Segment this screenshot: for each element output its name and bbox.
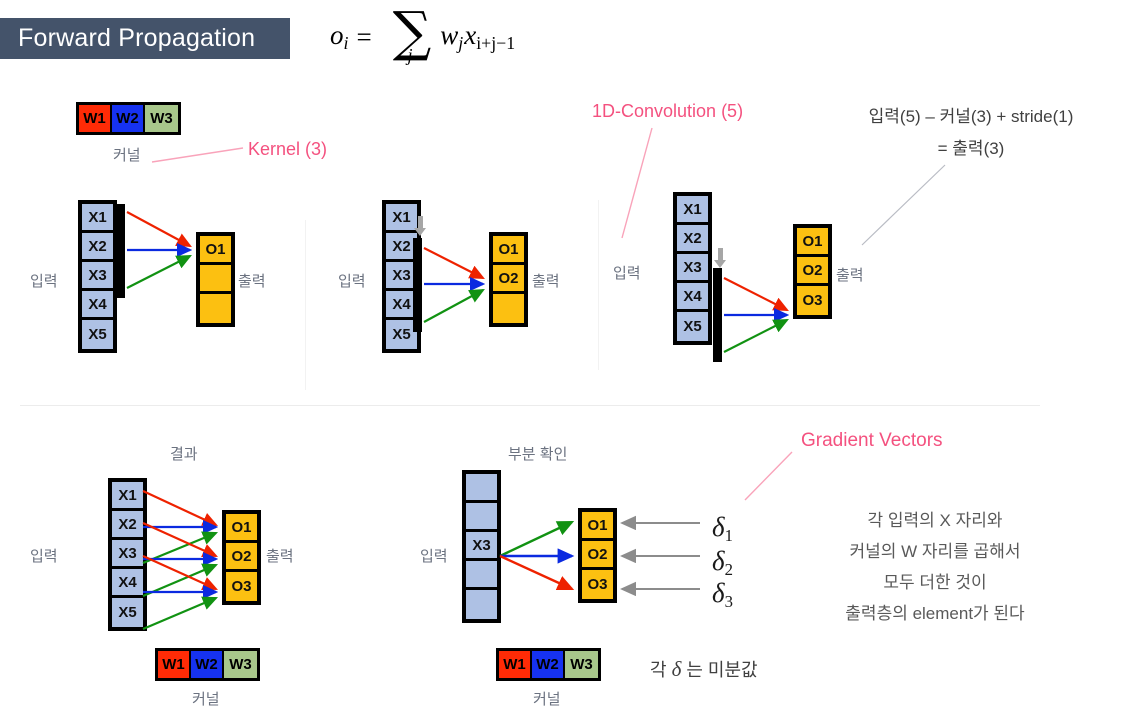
input-label-result: 입력 <box>30 545 58 566</box>
kernel-strip-top: W1 W2 W3 <box>76 102 181 135</box>
arrows-result-panel <box>143 491 216 629</box>
input-label-partial: 입력 <box>420 545 448 566</box>
kernel-caption-result: 커널 <box>192 688 220 709</box>
output-cell-o3: O3 <box>226 572 257 601</box>
input-cell-x4: X4 <box>112 569 143 598</box>
output-size-note: 입력(5) – 커널(3) + stride(1) = 출력(3) <box>836 101 1106 165</box>
input-cell-2 <box>466 503 497 532</box>
output-vector-panel-2: O1 O2 <box>489 232 528 327</box>
explanation-note: 각 입력의 X 자리와 커널의 W 자리를 곱해서 모두 더한 것이 출력층의 … <box>790 505 1080 629</box>
arrows-panel-3 <box>724 278 787 352</box>
explanation-line-3: 모두 더한 것이 <box>790 567 1080 598</box>
explanation-line-1: 각 입력의 X 자리와 <box>790 505 1080 536</box>
output-cell-o1: O1 <box>797 228 828 257</box>
output-vector-partial: O1 O2 O3 <box>578 508 617 603</box>
input-cell-x4: X4 <box>677 283 708 312</box>
kernel-caption-partial: 커널 <box>533 688 561 709</box>
kernel-cell-w2: W2 <box>532 651 565 678</box>
arrows-panel-2 <box>424 248 483 322</box>
kernel-cell-w1: W1 <box>499 651 532 678</box>
input-vector-partial: X3 <box>462 470 501 623</box>
kernel-window-panel-2 <box>413 238 422 332</box>
kernel-window-panel-3 <box>713 268 722 362</box>
formula-lhs: oi <box>330 20 348 54</box>
slide-down-arrow-panel-2 <box>414 216 426 236</box>
input-label-panel-1: 입력 <box>30 270 58 291</box>
output-size-line-2: = 출력(3) <box>836 133 1106 165</box>
kernel-cell-w2: W2 <box>191 651 224 678</box>
input-label-panel-2: 입력 <box>338 270 366 291</box>
arrows-partial-panel <box>500 522 572 589</box>
output-label-panel-3: 출력 <box>836 264 864 285</box>
formula-weight-term: wj <box>440 20 463 54</box>
input-cell-x2: X2 <box>82 233 113 262</box>
output-size-line-1: 입력(5) – 커널(3) + stride(1) <box>836 101 1106 133</box>
kernel-cell-w1: W1 <box>79 105 112 132</box>
leader-line-kernel <box>152 148 243 162</box>
input-cell-x5: X5 <box>82 320 113 349</box>
kernel-caption-top: 커널 <box>113 144 141 165</box>
kernel-strip-result: W1 W2 W3 <box>155 648 260 681</box>
output-cell-o3 <box>493 294 524 323</box>
output-cell-o2: O2 <box>797 257 828 286</box>
input-cell-x5: X5 <box>677 312 708 341</box>
result-title: 결과 <box>170 443 198 464</box>
output-cell-o2: O2 <box>493 265 524 294</box>
kernel-strip-partial: W1 W2 W3 <box>496 648 601 681</box>
output-cell-o2: O2 <box>226 543 257 572</box>
output-cell-o2 <box>200 265 231 294</box>
input-cell-x1: X1 <box>112 482 143 511</box>
gradient-callout-label: Gradient Vectors <box>801 430 943 452</box>
explanation-line-4: 출력층의 element가 된다 <box>790 598 1080 629</box>
panel-divider-2 <box>598 200 599 370</box>
output-vector-panel-3: O1 O2 O3 <box>793 224 832 319</box>
output-cell-o1: O1 <box>493 236 524 265</box>
kernel-cell-w3: W3 <box>145 105 178 132</box>
output-label-panel-1: 출력 <box>238 270 266 291</box>
summation-operator: ∑ j <box>384 8 437 66</box>
kernel-callout-label: Kernel (3) <box>248 139 327 160</box>
explanation-line-2: 커널의 W 자리를 곱해서 <box>790 536 1080 567</box>
output-cell-o3: O3 <box>797 286 828 315</box>
input-cell-x3: X3 <box>466 532 497 561</box>
input-cell-1 <box>466 474 497 503</box>
delta-label-2: δ2 <box>712 546 733 580</box>
output-cell-o1: O1 <box>582 512 613 541</box>
kernel-cell-w3: W3 <box>224 651 257 678</box>
input-cell-x2: X2 <box>677 225 708 254</box>
slide-down-arrow-panel-3 <box>714 248 726 268</box>
conv-callout-label: 1D-Convolution (5) <box>592 101 743 122</box>
input-cell-x3: X3 <box>112 540 143 569</box>
page-title: Forward Propagation <box>0 24 255 53</box>
kernel-cell-w3: W3 <box>565 651 598 678</box>
output-label-result: 출력 <box>266 545 294 566</box>
input-cell-x1: X1 <box>386 204 417 233</box>
formula-input-term: xi+j−1 <box>464 20 515 54</box>
arrows-panel-1 <box>127 212 190 288</box>
delta-note: 각 δ 는 미분값 <box>650 656 758 682</box>
output-vector-result: O1 O2 O3 <box>222 510 261 605</box>
kernel-cell-w2: W2 <box>112 105 145 132</box>
input-cell-x5: X5 <box>112 598 143 627</box>
input-cell-x1: X1 <box>677 196 708 225</box>
kernel-cell-w1: W1 <box>158 651 191 678</box>
kernel-window-panel-1 <box>116 204 125 298</box>
convolution-formula: oi = ∑ j wj xi+j−1 <box>330 8 515 66</box>
formula-equals: = <box>356 22 371 53</box>
leader-line-output-size <box>862 165 945 245</box>
output-vector-panel-1: O1 <box>196 232 235 327</box>
delta-label-3: δ3 <box>712 578 733 612</box>
input-vector-panel-3: X1 X2 X3 X4 X5 <box>673 192 712 345</box>
panel-divider-1 <box>305 220 306 390</box>
leader-line-gradient <box>745 452 792 500</box>
input-cell-x1: X1 <box>82 204 113 233</box>
output-cell-o2: O2 <box>582 541 613 570</box>
arrows-delta <box>622 523 700 589</box>
delta-label-1: δ1 <box>712 512 733 546</box>
input-cell-x3: X3 <box>677 254 708 283</box>
leader-line-convolution <box>622 128 652 238</box>
input-vector-result: X1 X2 X3 X4 X5 <box>108 478 147 631</box>
section-divider <box>20 405 1040 406</box>
input-vector-panel-1: X1 X2 X3 X4 X5 <box>78 200 117 353</box>
input-cell-5 <box>466 590 497 619</box>
output-cell-o3: O3 <box>582 570 613 599</box>
input-label-panel-3: 입력 <box>613 262 641 283</box>
input-cell-x3: X3 <box>82 262 113 291</box>
input-cell-4 <box>466 561 497 590</box>
page-title-banner: Forward Propagation <box>0 18 290 59</box>
output-cell-o1: O1 <box>226 514 257 543</box>
output-cell-o3 <box>200 294 231 323</box>
input-cell-x2: X2 <box>112 511 143 540</box>
partial-check-title: 부분 확인 <box>508 443 567 464</box>
input-cell-x4: X4 <box>82 291 113 320</box>
output-label-panel-2: 출력 <box>532 270 560 291</box>
output-cell-o1: O1 <box>200 236 231 265</box>
